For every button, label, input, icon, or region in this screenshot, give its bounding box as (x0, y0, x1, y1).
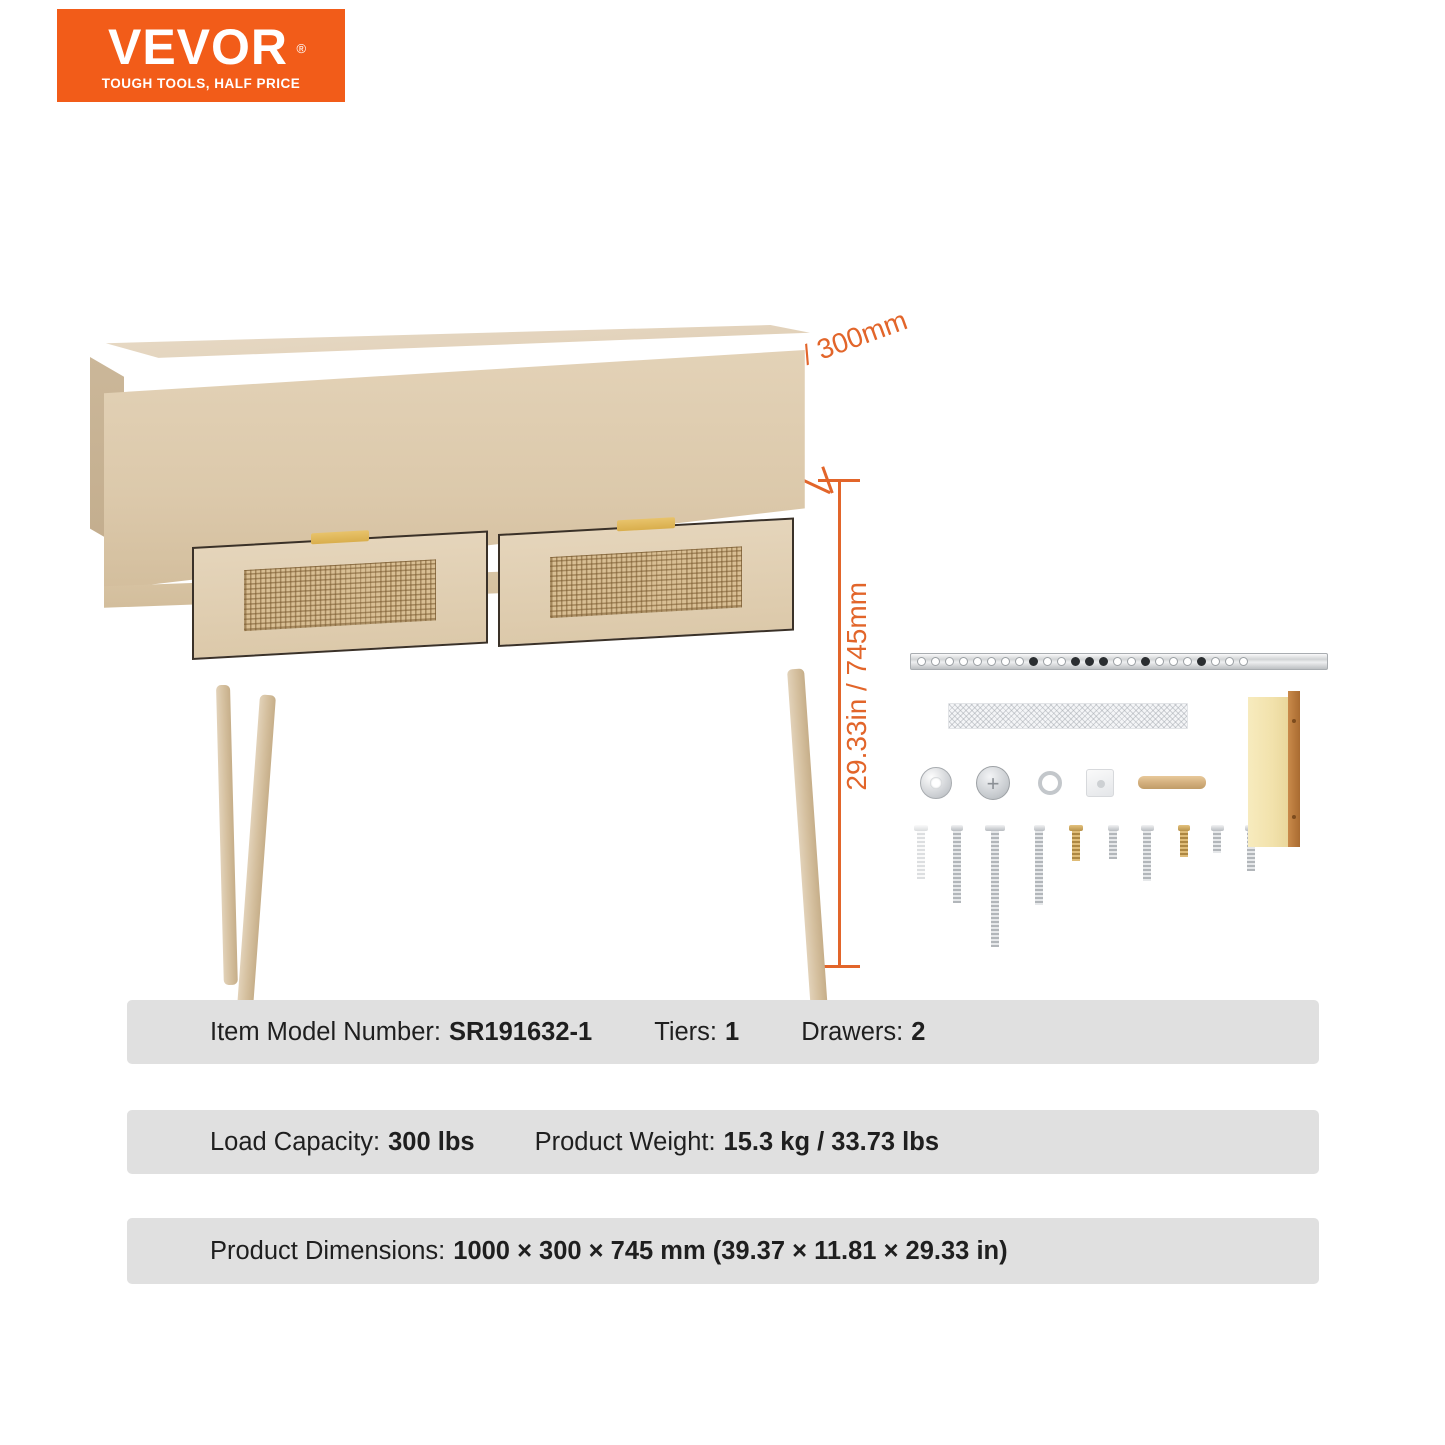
fastener-row (910, 825, 1250, 945)
spec-value-product-dimensions: 1000 × 300 × 745 mm (39.37 × 11.81 × 29.… (453, 1237, 1007, 1266)
drawer-handle-left (311, 530, 369, 544)
spec-value-model: SR191632-1 (449, 1018, 592, 1047)
spec-bar-capacity-content: Load Capacity: 300 lbs Product Weight: 1… (127, 1128, 939, 1157)
rattan-cane-panel-right (550, 546, 743, 618)
rail-hole (917, 657, 926, 666)
spec-value-load-capacity: 300 lbs (388, 1128, 474, 1157)
table-leg-front-left (234, 694, 276, 1049)
small-parts-row (914, 763, 1244, 803)
fastener-shaft (917, 831, 925, 879)
brand-name-text: VEVOR ® (108, 21, 294, 73)
rail-hole (1015, 657, 1024, 666)
height-dimension-label: 29.33in / 745mm (841, 582, 885, 791)
spec-label-product-dimensions: Product Dimensions: (210, 1237, 445, 1266)
rail-hole (1239, 657, 1248, 666)
rail-hole (1029, 657, 1038, 666)
fastener-shaft (1109, 831, 1117, 859)
spec-item-product-dimensions: Product Dimensions: 1000 × 300 × 745 mm … (210, 1237, 1008, 1266)
table-leg-back-left (216, 685, 238, 985)
spec-bar-model: Item Model Number: SR191632-1 Tiers: 1 D… (127, 1000, 1319, 1064)
spec-value-tiers: 1 (725, 1018, 739, 1047)
screw-icon (1206, 825, 1228, 853)
rail-hole (1071, 657, 1080, 666)
rail-hole (945, 657, 954, 666)
spec-label-load-capacity: Load Capacity: (210, 1128, 380, 1157)
rail-hole (973, 657, 982, 666)
rail-hole (959, 657, 968, 666)
vevor-logo: VEVOR ® TOUGH TOOLS, HALF PRICE (57, 9, 345, 102)
drawer-left (192, 530, 488, 660)
screw-icon (1136, 825, 1158, 881)
handle-bar-part (1248, 697, 1300, 847)
screw-icon (1102, 825, 1124, 859)
spec-bar-dimensions: Product Dimensions: 1000 × 300 × 745 mm … (127, 1218, 1319, 1284)
hardware-parts-group (900, 635, 1340, 980)
brand-tagline: TOUGH TOOLS, HALF PRICE (102, 76, 301, 91)
spec-item-tiers: Tiers: 1 (654, 1018, 739, 1047)
screw-icon (946, 825, 968, 903)
spec-bar-capacity: Load Capacity: 300 lbs Product Weight: 1… (127, 1110, 1319, 1174)
rail-hole (1169, 657, 1178, 666)
fastener-shaft (1213, 831, 1221, 853)
console-table (90, 325, 830, 975)
spec-label-tiers: Tiers: (654, 1018, 717, 1047)
rail-hole (1057, 657, 1066, 666)
brass-screw-icon (1173, 825, 1195, 857)
rail-hole (1043, 657, 1052, 666)
rattan-cane-panel-left (244, 559, 437, 631)
rail-hole (1211, 657, 1220, 666)
rail-hole (1099, 657, 1108, 666)
wooden-dowel-icon (1138, 776, 1206, 789)
rail-hole (1127, 657, 1136, 666)
spec-bar-model-content: Item Model Number: SR191632-1 Tiers: 1 D… (127, 1018, 925, 1047)
fastener-shaft (1143, 831, 1151, 881)
spec-item-model: Item Model Number: SR191632-1 (210, 1018, 592, 1047)
spec-bar-dimensions-content: Product Dimensions: 1000 × 300 × 745 mm … (127, 1237, 1008, 1266)
brass-screw-icon (1065, 825, 1087, 861)
plastic-cap-icon (1086, 769, 1114, 797)
rail-hole (931, 657, 940, 666)
fastener-shaft (1035, 831, 1043, 905)
flat-washer-icon (920, 767, 952, 799)
spec-label-drawers: Drawers: (801, 1018, 903, 1047)
spec-value-drawers: 2 (911, 1018, 925, 1047)
spec-label-model: Item Model Number: (210, 1018, 441, 1047)
product-illustration: 39.37in / 1000mm 11.81in / 300mm 29.33in… (0, 150, 1445, 970)
fastener-shaft (1072, 831, 1080, 861)
table-leg-front-right (787, 668, 828, 1013)
rail-hole (1141, 657, 1150, 666)
drawer-right (498, 517, 794, 647)
spec-label-product-weight: Product Weight: (535, 1128, 716, 1157)
rail-hole (1225, 657, 1234, 666)
rail-hole (1183, 657, 1192, 666)
rail-hole (1113, 657, 1122, 666)
spec-value-product-weight: 15.3 kg / 33.73 lbs (724, 1128, 939, 1157)
fastener-shaft (1180, 831, 1188, 857)
wall-anchor-icon (910, 825, 932, 879)
rail-hole (987, 657, 996, 666)
drawer-handle-right (617, 517, 675, 531)
fastener-shaft (991, 831, 999, 947)
rail-hole (1197, 657, 1206, 666)
rail-hole (1085, 657, 1094, 666)
registered-trademark-icon: ® (296, 23, 307, 75)
spec-item-load-capacity: Load Capacity: 300 lbs (210, 1128, 475, 1157)
brand-name: VEVOR (108, 19, 288, 75)
rail-hole (1001, 657, 1010, 666)
spec-item-drawers: Drawers: 2 (801, 1018, 925, 1047)
handle-bar-edge (1288, 691, 1300, 847)
handle-bar-face (1248, 697, 1288, 847)
fastener-shaft (953, 831, 961, 903)
long-bolt-icon (984, 825, 1006, 947)
rail-hole (1155, 657, 1164, 666)
cam-lock-icon (976, 766, 1010, 800)
spec-item-product-weight: Product Weight: 15.3 kg / 33.73 lbs (535, 1128, 939, 1157)
mesh-strip (948, 703, 1188, 729)
drawer-slide-rail (910, 653, 1328, 670)
spring-ring-icon (1038, 771, 1062, 795)
dowel-screw-icon (1028, 825, 1050, 905)
